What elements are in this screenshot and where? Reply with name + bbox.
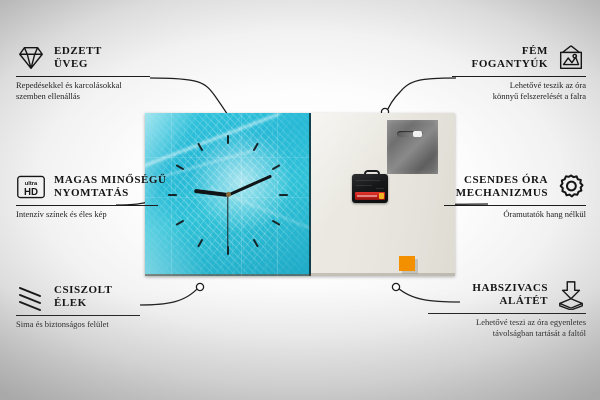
callout-title-line2: ÜVEG — [54, 58, 102, 71]
clock-front-panel — [145, 113, 311, 276]
callout-desc-line1: Lehetővé teszi az óra egyenletes — [428, 317, 586, 328]
hour-hand — [194, 188, 228, 196]
leader-line-polished-edges — [140, 288, 198, 305]
mechanism-line — [376, 188, 384, 189]
callout-polished-edges[interactable]: CSISZOLT ÉLEK Sima és biztonságos felüle… — [16, 282, 140, 330]
minute-hand — [227, 174, 271, 196]
foam-pad-arrow-icon — [556, 280, 586, 310]
callout-desc-line2: távolságban tartását a faltól — [428, 328, 586, 339]
svg-text:HD: HD — [24, 187, 38, 198]
callout-foam-pad[interactable]: HABSZIVACS ALÁTÉT Lehetővé teszi az óra … — [428, 280, 586, 339]
panel-edge-bottom — [145, 274, 311, 276]
callout-divider — [452, 76, 586, 77]
callout-title-line2: FOGANTYÚK — [472, 58, 548, 71]
callout-title-line1: EDZETT — [54, 45, 102, 58]
callout-title-line2: ALÁTÉT — [472, 295, 548, 308]
hour-tick — [253, 142, 259, 151]
anchor-dot-foam-pad — [392, 283, 399, 290]
callout-desc-line1: Intenzív színek és éles kép — [16, 209, 158, 220]
callout-title-line1: HABSZIVACS — [472, 282, 548, 295]
infographic-canvas: EDZETT ÜVEG Repedésekkel és karcolásokka… — [0, 0, 600, 400]
leader-line-tempered-glass — [150, 78, 229, 117]
polished-edges-icon — [16, 282, 46, 312]
mechanism-body — [352, 174, 388, 203]
leader-line-metal-handles — [386, 78, 456, 114]
second-hand — [227, 195, 228, 247]
gear-icon — [556, 172, 586, 202]
callout-divider — [444, 205, 586, 206]
mechanism-line — [356, 180, 380, 181]
callout-desc-line2: szemben ellenállás — [16, 91, 150, 102]
callout-silent-mechanism[interactable]: CSENDES ÓRA MECHANIZMUS Óramutatók hang … — [444, 172, 586, 220]
callout-desc-line1: Lehetővé teszik az óra — [452, 80, 586, 91]
hour-tick — [227, 135, 229, 144]
battery — [355, 192, 385, 200]
hour-tick — [197, 142, 203, 151]
callout-desc-line1: Repedésekkel és karcolásokkal — [16, 80, 150, 91]
hour-tick — [279, 194, 288, 196]
callout-desc-line1: Sima és biztonságos felület — [16, 319, 140, 330]
product-image — [145, 113, 455, 276]
callout-title-line1: FÉM — [472, 45, 548, 58]
callout-title-line1: MAGAS MINŐSÉGŰ — [54, 174, 167, 187]
mechanism-line — [356, 185, 372, 186]
callout-divider — [428, 313, 586, 314]
callout-desc-line1: Óramutatók hang nélkül — [444, 209, 586, 220]
callout-title-line2: MECHANIZMUS — [456, 187, 548, 200]
hour-tick — [168, 194, 177, 196]
callout-tempered-glass[interactable]: EDZETT ÜVEG Repedésekkel és karcolásokka… — [16, 43, 150, 102]
panel-bottom-shadow — [311, 273, 455, 276]
ultra-hd-icon: ultra HD — [16, 172, 46, 202]
hour-tick — [272, 164, 281, 170]
picture-frame-hanger-icon — [556, 43, 586, 73]
callout-desc-line2: könnyű felszerelését a falra — [452, 91, 586, 102]
callout-title-line2: ÉLEK — [54, 297, 112, 310]
anchor-dot-polished-edges — [196, 283, 203, 290]
callout-divider — [16, 205, 158, 206]
callout-title-line1: CSISZOLT — [54, 284, 112, 297]
clock-pivot — [226, 192, 231, 197]
hour-tick — [176, 164, 185, 170]
callout-metal-handles[interactable]: FÉM FOGANTYÚK Lehetővé teszik az óra kön… — [452, 43, 586, 102]
hour-tick — [272, 219, 281, 225]
foam-pad-part — [399, 256, 415, 271]
hanger-slot — [397, 131, 423, 137]
hour-tick — [197, 238, 203, 247]
callout-divider — [16, 315, 140, 316]
clock-dial — [145, 113, 311, 276]
hour-tick — [176, 219, 185, 225]
callout-divider — [16, 76, 150, 77]
callout-high-quality-print[interactable]: ultra HD MAGAS MINŐSÉGŰ NYOMTATÁS Intenz… — [16, 172, 158, 220]
clock-mechanism-part — [352, 170, 388, 203]
diamond-icon — [16, 43, 46, 73]
callout-title-line2: NYOMTATÁS — [54, 187, 167, 200]
clock-back-panel — [311, 113, 455, 276]
metal-hanger-part — [387, 120, 438, 174]
callout-title-line1: CSENDES ÓRA — [456, 174, 548, 187]
hour-tick — [253, 238, 259, 247]
